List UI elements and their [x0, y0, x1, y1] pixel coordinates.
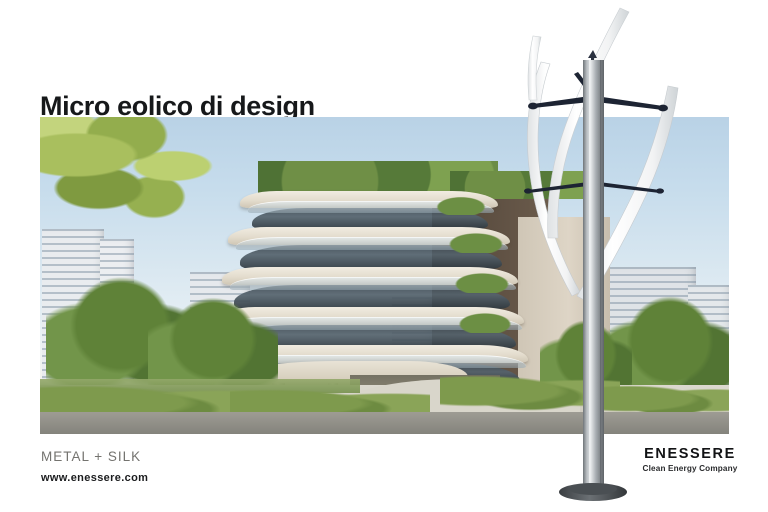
turbine-blade-tip-upper-left: [528, 36, 541, 100]
poster-canvas: Micro eolico di design per l’architettur…: [0, 0, 768, 512]
foreground-tree: [40, 117, 260, 221]
balcony-planting: [454, 311, 516, 333]
brand-name: ENESSERE: [638, 446, 742, 462]
turbine-finial: [591, 56, 594, 78]
turbine-upper-hub: [528, 72, 668, 120]
turbine-base-plate: [559, 483, 627, 501]
hero-photo: [40, 117, 729, 434]
road-strip: [40, 412, 729, 434]
planting-bed: [440, 375, 620, 415]
product-line-label: METAL + SILK: [41, 449, 141, 464]
turbine-finial-cap: [588, 50, 597, 58]
website-url[interactable]: www.enessere.com: [41, 472, 148, 484]
balcony-planting: [450, 271, 514, 293]
brand-tagline: Clean Energy Company: [638, 463, 742, 474]
balcony-planting: [444, 231, 508, 253]
brand-logo: ENESSERE Clean Energy Company: [638, 446, 742, 474]
balcony-planting: [432, 195, 490, 215]
